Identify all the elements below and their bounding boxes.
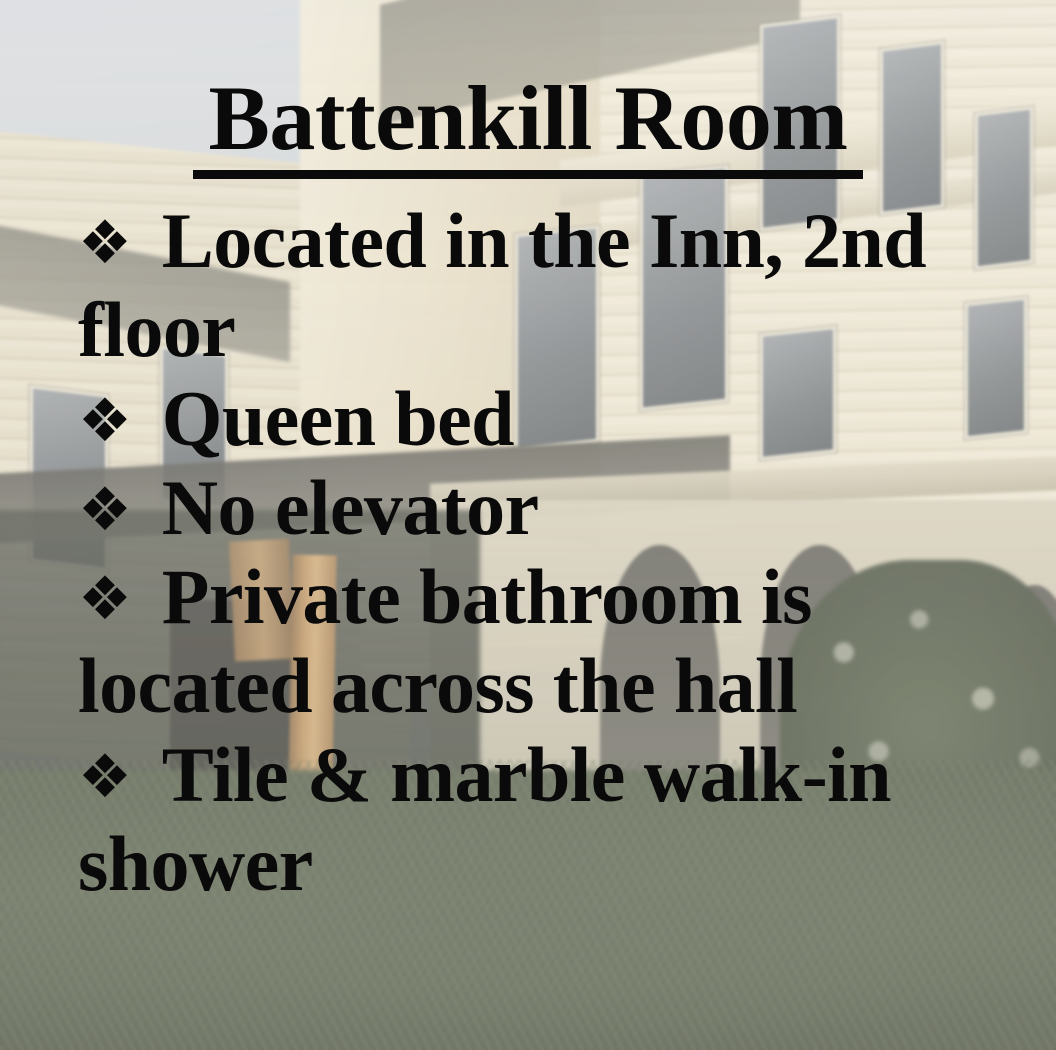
diamond-bullet-icon: ❖ bbox=[78, 564, 162, 634]
title-block: Battenkill Room bbox=[0, 72, 1056, 179]
list-item: ❖ Private bathroom is located across the… bbox=[78, 552, 1026, 730]
list-item: ❖ Queen bed bbox=[78, 374, 1026, 463]
list-item-label: Tile & marble walk-in shower bbox=[78, 731, 891, 907]
slide-content: Battenkill Room ❖ Located in the Inn, 2n… bbox=[0, 0, 1056, 1050]
list-item-label: No elevator bbox=[162, 464, 539, 551]
diamond-bullet-icon: ❖ bbox=[78, 742, 162, 812]
page-title: Battenkill Room bbox=[202, 72, 853, 164]
list-item: ❖ No elevator bbox=[78, 463, 1026, 552]
room-info-slide: BROOK TAVERN Battenkill Room ❖ Located i… bbox=[0, 0, 1056, 1050]
list-item-label: Private bathroom is located across the h… bbox=[78, 553, 812, 729]
list-item-label: Queen bed bbox=[162, 375, 514, 462]
title-underline bbox=[193, 170, 863, 179]
list-item: ❖ Located in the Inn, 2nd floor bbox=[78, 196, 1026, 374]
diamond-bullet-icon: ❖ bbox=[78, 386, 162, 456]
feature-bullet-list: ❖ Located in the Inn, 2nd floor ❖ Queen … bbox=[78, 196, 1026, 908]
diamond-bullet-icon: ❖ bbox=[78, 208, 162, 278]
list-item: ❖ Tile & marble walk-in shower bbox=[78, 730, 1026, 908]
list-item-label: Located in the Inn, 2nd floor bbox=[78, 197, 926, 373]
diamond-bullet-icon: ❖ bbox=[78, 475, 162, 545]
